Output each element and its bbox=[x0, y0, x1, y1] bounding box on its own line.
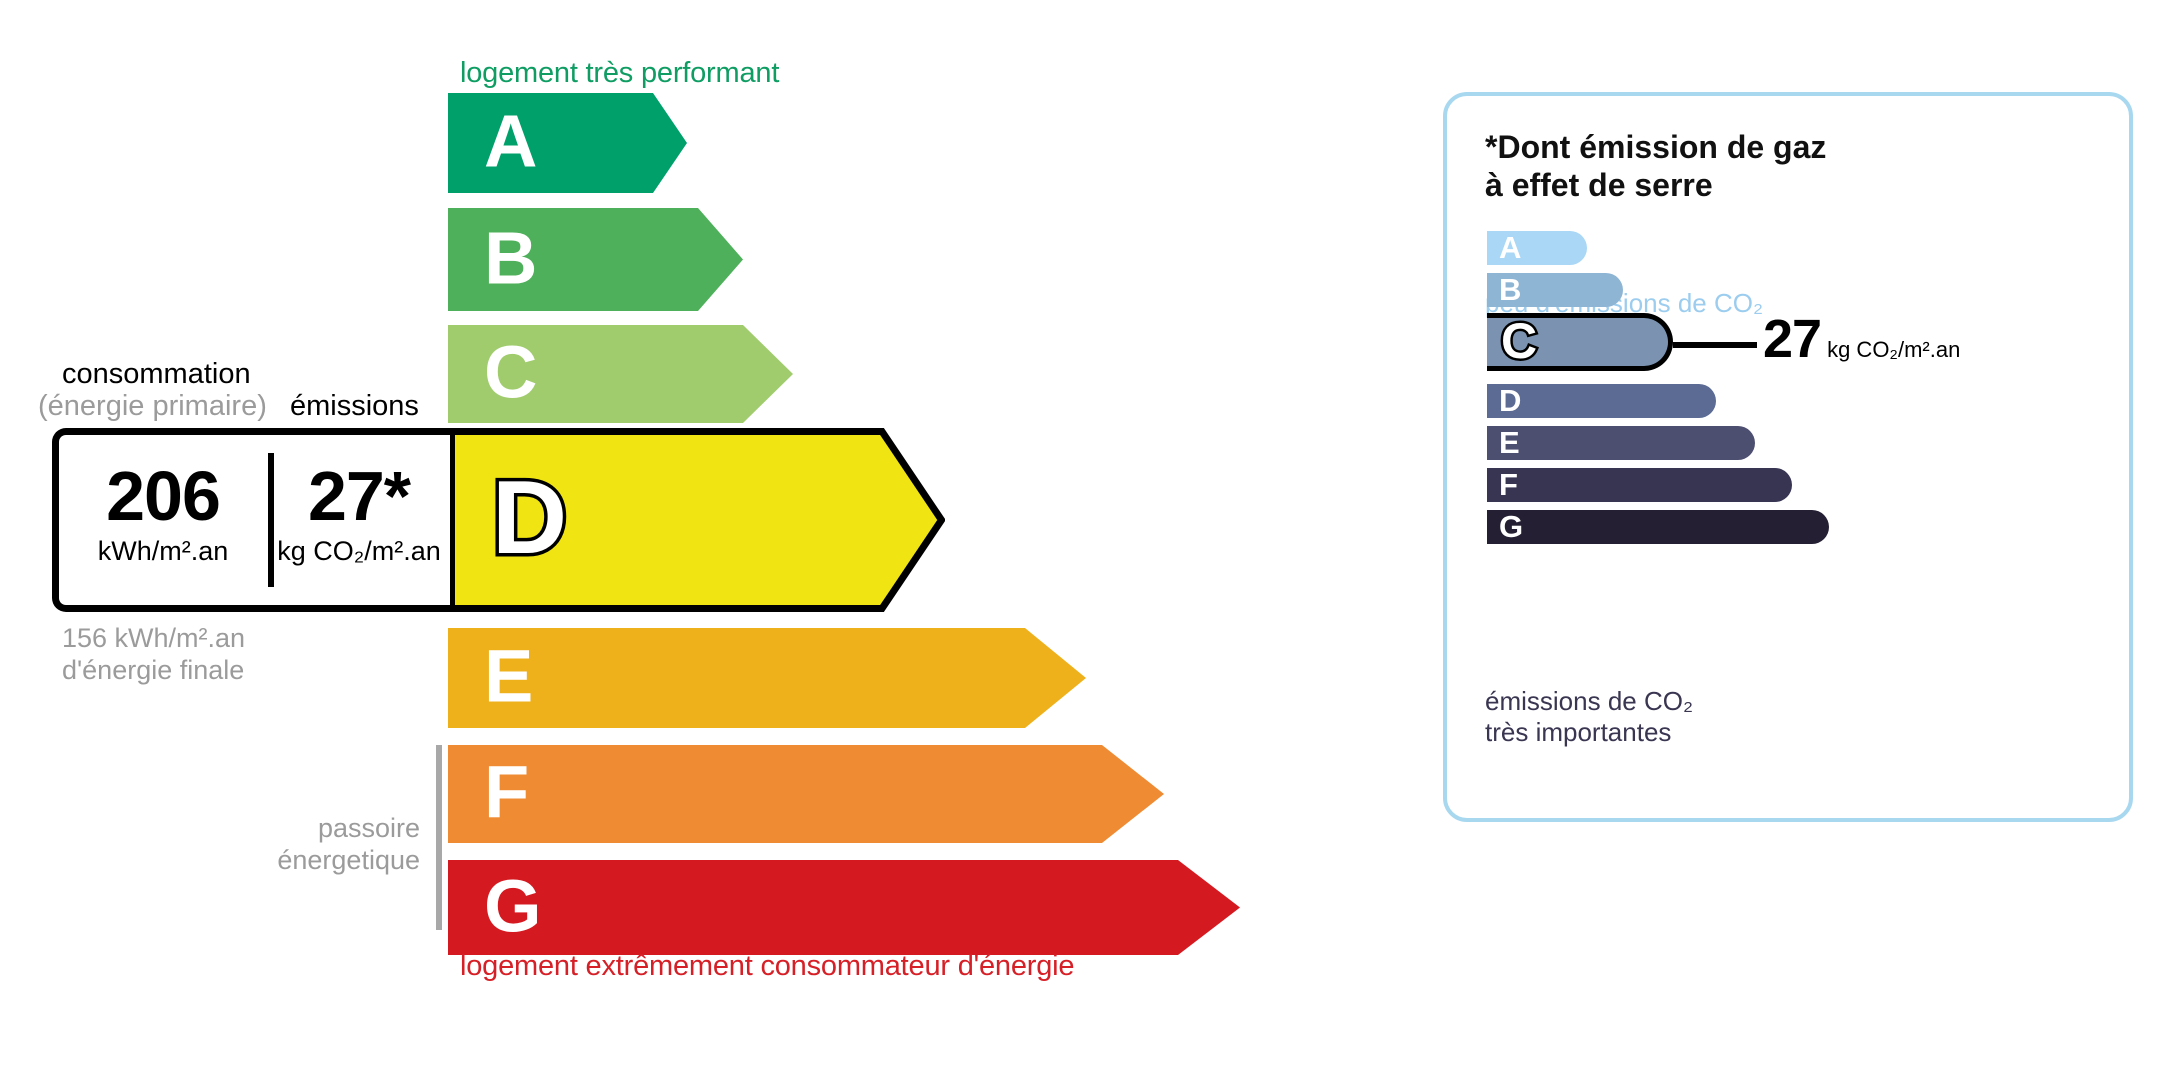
energy-band-g: G bbox=[448, 860, 1240, 955]
value-box: 206 kWh/m².an 27* kg CO₂/m².an bbox=[52, 428, 450, 612]
consumption-unit: kWh/m².an bbox=[63, 535, 263, 569]
co2-bar-letter-c: C bbox=[1501, 316, 1537, 366]
co2-value-number: 27 bbox=[1763, 309, 1821, 369]
energy-band-shape-g bbox=[448, 860, 1240, 955]
passoire-energetique-label: passoire énergetique bbox=[180, 812, 420, 877]
co2-emissions-panel: *Dont émission de gaz à effet de serre p… bbox=[1443, 92, 2133, 822]
final-energy-caption: d'énergie finale bbox=[62, 654, 245, 686]
final-energy-value: 156 kWh/m².an bbox=[62, 622, 245, 654]
passoire-bracket bbox=[436, 745, 442, 930]
energy-band-f: F bbox=[448, 745, 1164, 843]
co2-bar-letter-a: A bbox=[1499, 232, 1521, 263]
passoire-line1: passoire bbox=[180, 812, 420, 844]
co2-leader-line bbox=[1673, 342, 1757, 348]
co2-bar-d: D bbox=[1487, 384, 1716, 418]
energy-scale-bottom-caption: logement extrêmement consommateur d'éner… bbox=[460, 950, 1074, 983]
consommation-label: consommation bbox=[62, 358, 251, 391]
energy-band-letter-e: E bbox=[484, 640, 533, 714]
energy-band-letter-c: C bbox=[484, 336, 537, 410]
passoire-line2: énergetique bbox=[180, 844, 420, 876]
emission-unit: kg CO₂/m².an bbox=[271, 535, 447, 569]
emission-number: 27* bbox=[271, 461, 447, 531]
co2-bar-a: A bbox=[1487, 231, 1587, 265]
energy-band-a: A bbox=[448, 93, 687, 193]
co2-bar-letter-f: F bbox=[1499, 469, 1518, 500]
co2-bottom-caption-line2: très importantes bbox=[1485, 717, 1693, 748]
co2-title-line2: à effet de serre bbox=[1485, 167, 1826, 205]
energie-primaire-label: (énergie primaire) bbox=[38, 390, 267, 423]
consumption-value-cell: 206 kWh/m².an bbox=[63, 461, 263, 569]
energy-performance-diagram: logement très performant ABCDEFG consomm… bbox=[0, 0, 1400, 1079]
consumption-number: 206 bbox=[63, 461, 263, 531]
co2-bar-letter-e: E bbox=[1499, 427, 1520, 458]
final-energy-note: 156 kWh/m².an d'énergie finale bbox=[62, 622, 245, 687]
co2-panel-title: *Dont émission de gaz à effet de serre bbox=[1485, 129, 1826, 205]
energy-band-letter-b: B bbox=[484, 221, 537, 295]
co2-bottom-caption-line1: émissions de CO₂ bbox=[1485, 686, 1693, 717]
co2-bar-g: G bbox=[1487, 510, 1829, 544]
co2-title-line1: *Dont émission de gaz bbox=[1485, 129, 1826, 167]
co2-bar-letter-g: G bbox=[1499, 511, 1523, 542]
energy-band-shape-f bbox=[448, 745, 1164, 843]
energy-scale-top-caption: logement très performant bbox=[460, 57, 779, 90]
emission-value-cell: 27* kg CO₂/m².an bbox=[271, 461, 447, 569]
energy-band-shape-e bbox=[448, 628, 1086, 728]
co2-bar-letter-b: B bbox=[1499, 274, 1521, 305]
energy-band-letter-f: F bbox=[484, 756, 529, 830]
energy-band-letter-a: A bbox=[484, 105, 537, 179]
co2-value-callout: 27kg CO₂/m².an bbox=[1763, 308, 1960, 370]
co2-bottom-caption: émissions de CO₂ très importantes bbox=[1485, 686, 1693, 748]
energy-band-e: E bbox=[448, 628, 1086, 728]
co2-bar-e: E bbox=[1487, 426, 1755, 460]
co2-bar-b: B bbox=[1487, 273, 1623, 307]
energy-band-b: B bbox=[448, 208, 743, 311]
co2-bar-c: C bbox=[1487, 313, 1673, 371]
energy-band-letter-g: G bbox=[484, 869, 542, 943]
co2-value-unit: kg CO₂/m².an bbox=[1827, 337, 1960, 362]
energy-band-d: D bbox=[448, 428, 945, 612]
energy-band-letter-d: D bbox=[492, 466, 567, 570]
co2-bar-letter-d: D bbox=[1499, 385, 1521, 416]
emissions-label: émissions bbox=[290, 390, 419, 423]
energy-band-c: C bbox=[448, 325, 793, 423]
co2-bar-f: F bbox=[1487, 468, 1792, 502]
